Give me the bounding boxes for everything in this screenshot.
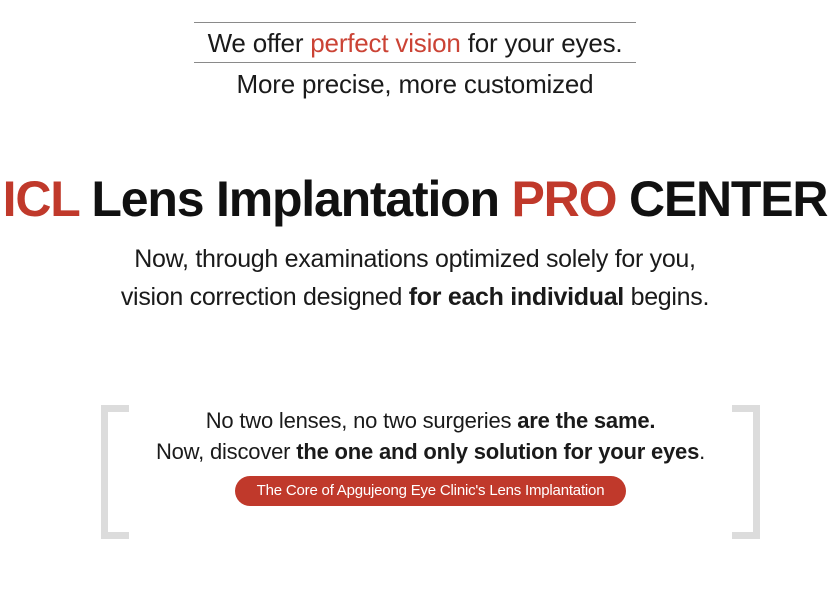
headline-accent-pro: PRO <box>512 171 617 227</box>
callout-line-2-emphasis: the one and only solution for your eyes <box>296 439 699 464</box>
lead-line-2: vision correction designed for each indi… <box>0 278 830 316</box>
lead-paragraph: Now, through examinations optimized sole… <box>0 240 830 316</box>
eyebrow-line-1: We offer perfect vision for your eyes. <box>194 22 637 63</box>
callout-line-2-before: Now, discover <box>156 439 296 464</box>
core-badge-button[interactable]: The Core of Apgujeong Eye Clinic's Lens … <box>235 476 627 506</box>
callout-text: No two lenses, no two surgeries are the … <box>141 405 720 467</box>
eyebrow-block: We offer perfect vision for your eyes. M… <box>0 22 830 100</box>
lead-line-2-emphasis: for each individual <box>409 283 624 311</box>
callout-line-2-after: . <box>699 439 705 464</box>
headline-accent-icl: ICL <box>3 171 79 227</box>
callout-line-1-emphasis: are the same. <box>517 408 655 433</box>
eyebrow-text-after: for your eyes. <box>461 28 623 58</box>
bracket-left-icon <box>101 405 129 539</box>
promo-page: We offer perfect vision for your eyes. M… <box>0 0 830 598</box>
callout-body: No two lenses, no two surgeries are the … <box>141 405 720 506</box>
lead-line-1: Now, through examinations optimized sole… <box>0 240 830 278</box>
eyebrow-accent-text: perfect vision <box>310 28 460 58</box>
callout-block: No two lenses, no two surgeries are the … <box>101 405 760 539</box>
eyebrow-text-before: We offer <box>208 28 311 58</box>
lead-line-2-after: begins. <box>624 283 709 311</box>
pill-row: The Core of Apgujeong Eye Clinic's Lens … <box>141 476 720 506</box>
eyebrow-line-2: More precise, more customized <box>0 68 830 100</box>
headline-mid-text: Lens Implantation <box>79 171 512 227</box>
headline-end-text: CENTER <box>616 171 827 227</box>
callout-line-1-before: No two lenses, no two surgeries <box>206 408 518 433</box>
bracket-right-icon <box>732 405 760 539</box>
lead-line-2-before: vision correction designed <box>121 283 409 311</box>
page-title: ICL Lens Implantation PRO CENTER <box>0 168 830 230</box>
